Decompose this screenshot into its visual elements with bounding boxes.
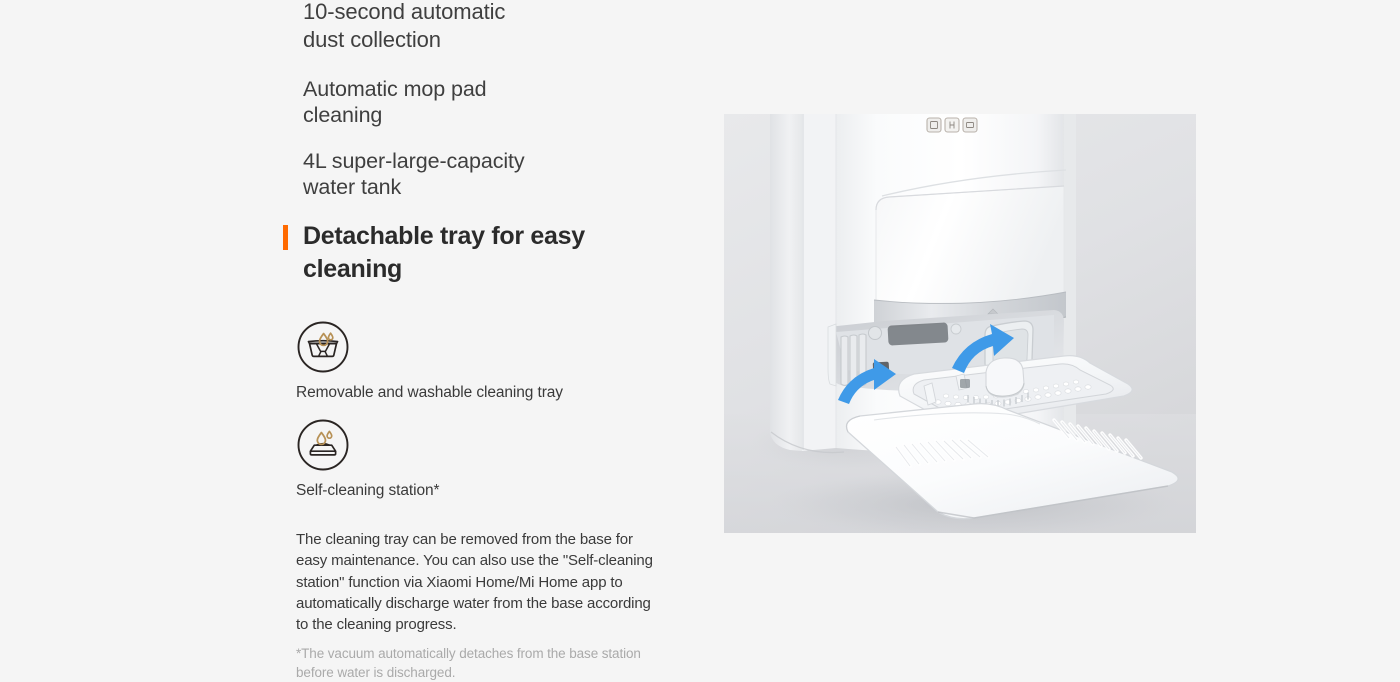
tray-hub: [986, 358, 1024, 397]
detail-body-text: The cleaning tray can be removed from th…: [296, 529, 654, 635]
feature-item-mop-pad-cleaning[interactable]: Automatic mop pad cleaning: [282, 76, 682, 128]
recess-slot: [887, 322, 948, 345]
feature-item-dust-collection[interactable]: 10-second automatic dust collection: [282, 0, 682, 54]
self-cleaning-station-icon: [296, 418, 350, 472]
detail-icon-caption: Removable and washable cleaning tray: [296, 383, 676, 403]
detail-icon-caption: Self-cleaning station*: [296, 481, 676, 501]
detail-icon-row-self-cleaning: Self-cleaning station*: [296, 418, 676, 501]
feature-item-label: 4L super-large-capacity water tank: [303, 148, 563, 200]
feature-content-column: 10-second automatic dust collection Auto…: [282, 0, 682, 674]
feature-item-water-tank[interactable]: 4L super-large-capacity water tank: [282, 148, 682, 200]
feature-item-label: Automatic mop pad cleaning: [303, 76, 563, 128]
control-buttons: [927, 118, 977, 132]
product-image: [724, 114, 1196, 533]
water-tank-panel: [876, 186, 1064, 303]
feature-item-label: 10-second automatic dust collection: [303, 0, 563, 54]
feature-item-detachable-tray[interactable]: Detachable tray for easy cleaning: [282, 220, 682, 286]
detail-icon-row-washable-tray: Removable and washable cleaning tray: [296, 320, 676, 403]
detail-footnote: *The vacuum automatically detaches from …: [296, 644, 646, 682]
page-root: 10-second automatic dust collection Auto…: [0, 0, 1400, 674]
tower-left-face: [770, 114, 802, 451]
washable-cleaning-tray-icon: [296, 320, 350, 374]
active-accent-bar: [283, 225, 288, 250]
feature-item-label: Detachable tray for easy cleaning: [303, 220, 653, 286]
feature-nav: 10-second automatic dust collection Auto…: [282, 0, 682, 312]
